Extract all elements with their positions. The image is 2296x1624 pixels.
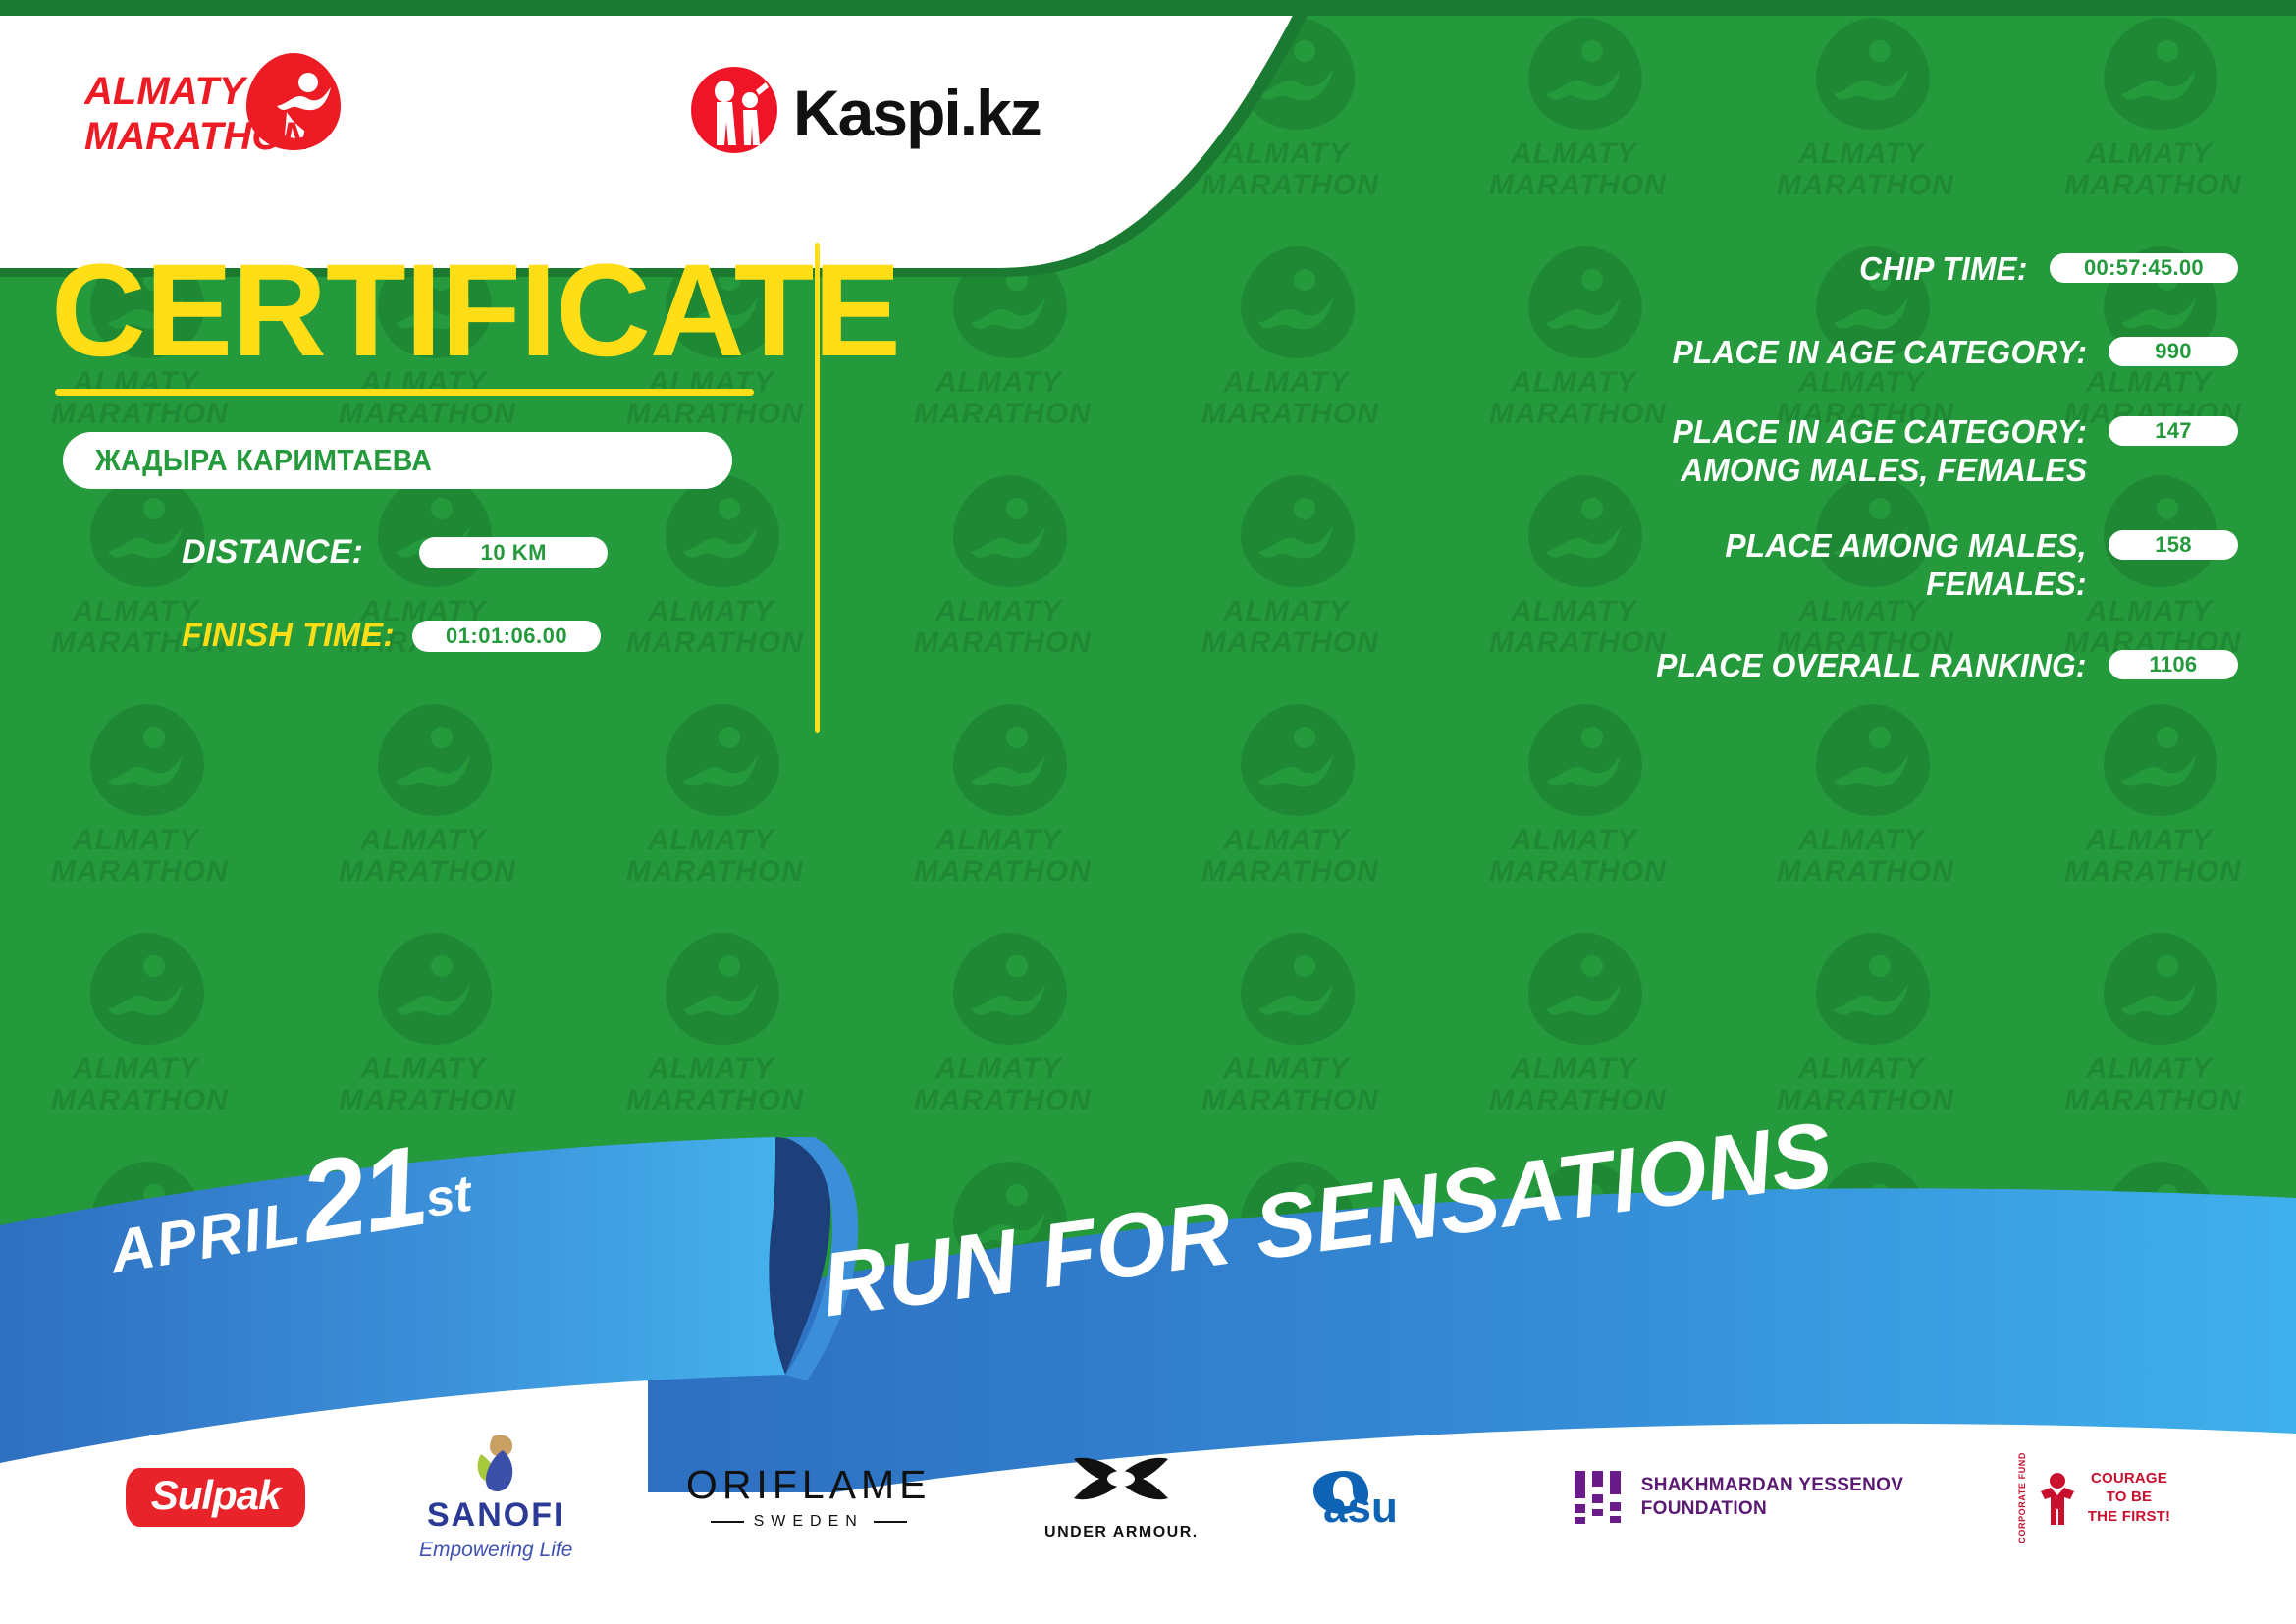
- distance-value: 10 KM: [419, 537, 608, 568]
- oriflame-sub-wrap: SWEDEN: [711, 1513, 907, 1531]
- kaspi-logo: Kaspi.kz: [687, 61, 1070, 159]
- stat-label: PLACE AMONG MALES, FEMALES:: [1726, 527, 2087, 604]
- stat-value: 990: [2109, 337, 2238, 366]
- finish-time-value: 01:01:06.00: [412, 621, 601, 652]
- oriflame-rule-right: [874, 1521, 907, 1523]
- stats-list: CHIP TIME: 00:57:45.00 PLACE IN AGE CATE…: [864, 250, 2238, 711]
- sponsor-asu: asu: [1311, 1465, 1459, 1530]
- yessenov-line2: FOUNDATION: [1641, 1497, 1903, 1521]
- sponsor-oriflame: ORIFLAME SWEDEN: [686, 1465, 932, 1531]
- sanofi-bird-icon: [459, 1433, 532, 1497]
- yessenov-line1: SHAKHMARDAN YESSENOV: [1641, 1474, 1903, 1497]
- courage-text: COURAGE TO BE THE FIRST!: [2088, 1469, 2171, 1527]
- participant-name-field: ЖАДЫРА КАРИМТАЕВА: [63, 432, 732, 489]
- sponsor-sulpak: Sulpak: [126, 1468, 306, 1527]
- finish-time-label: FINISH TIME:: [182, 617, 395, 655]
- stat-value: 158: [2109, 530, 2238, 560]
- finish-time-row: FINISH TIME: 01:01:06.00: [182, 617, 601, 655]
- stat-row: PLACE IN AGE CATEGORY: 990: [864, 334, 2238, 372]
- sanofi-name: SANOFI: [427, 1497, 564, 1534]
- almaty-logo-line2: MARATHON: [84, 115, 311, 158]
- almaty-marathon-logo: ALMATY MARATHON: [84, 47, 389, 165]
- stat-row: CHIP TIME: 00:57:45.00: [864, 250, 2238, 289]
- stat-label: CHIP TIME:: [1860, 250, 2028, 289]
- vertical-divider: [815, 243, 820, 733]
- certificate-title: CERTIFICATE: [51, 245, 797, 377]
- stat-value: 00:57:45.00: [2050, 253, 2238, 283]
- sponsor-sanofi: SANOFI Empowering Life: [419, 1433, 572, 1561]
- event-month: APRIL: [106, 1190, 306, 1287]
- courage-corporate-fund-label: CORPORATE FUND: [2017, 1452, 2027, 1543]
- courage-line2: TO BE: [2088, 1488, 2171, 1507]
- stat-row: PLACE AMONG MALES, FEMALES: 158: [864, 527, 2238, 604]
- stat-label: PLACE IN AGE CATEGORY:: [1672, 334, 2087, 372]
- almaty-logo-line1: ALMATY: [84, 70, 248, 113]
- stat-value: 1106: [2109, 650, 2238, 679]
- oriflame-sub: SWEDEN: [754, 1513, 864, 1531]
- stat-value: 147: [2109, 416, 2238, 446]
- sponsor-bar: Sulpak SANOFI Empowering Life ORIFLAME S…: [0, 1429, 2296, 1566]
- top-accent-bar: [0, 0, 2296, 16]
- sanofi-tagline: Empowering Life: [419, 1539, 572, 1562]
- yessenov-bars-icon: [1573, 1469, 1628, 1526]
- sulpak-logo-text: Sulpak: [126, 1468, 306, 1527]
- oriflame-name: ORIFLAME: [686, 1465, 932, 1505]
- stat-label: PLACE IN AGE CATEGORY: AMONG MALES, FEMA…: [1672, 413, 2087, 490]
- sponsor-yessenov: SHAKHMARDAN YESSENOV FOUNDATION: [1573, 1469, 1903, 1526]
- under-armour-name: UNDER ARMOUR.: [1044, 1524, 1199, 1542]
- distance-label: DISTANCE:: [182, 533, 363, 571]
- yessenov-text: SHAKHMARDAN YESSENOV FOUNDATION: [1641, 1474, 1903, 1521]
- distance-row: DISTANCE: 10 KM: [182, 533, 608, 571]
- oriflame-rule-left: [711, 1521, 744, 1523]
- under-armour-icon: [1056, 1453, 1186, 1518]
- event-day-suffix: st: [422, 1165, 476, 1229]
- stat-label: PLACE OVERALL RANKING:: [1657, 647, 2087, 685]
- event-day: 21: [293, 1121, 434, 1267]
- title-underline: [55, 389, 754, 396]
- participant-name: ЖАДЫРА КАРИМТАЕВА: [95, 443, 432, 478]
- courage-figure-icon: [2035, 1470, 2080, 1525]
- kaspi-logo-text: Kaspi.kz: [793, 77, 1041, 149]
- sponsor-under-armour: UNDER ARMOUR.: [1044, 1453, 1199, 1542]
- svg-text:asu: asu: [1323, 1484, 1398, 1530]
- courage-line3: THE FIRST!: [2088, 1507, 2171, 1527]
- certificate-page: ALMATY MARATHON ALMATY MARATHON Kaspi.k: [0, 0, 2296, 1624]
- sponsor-courage: CORPORATE FUND COURAGE TO BE THE FIRST!: [2017, 1452, 2171, 1543]
- courage-line1: COURAGE: [2088, 1469, 2171, 1489]
- asu-logo-icon: asu: [1311, 1465, 1459, 1530]
- stat-row: PLACE IN AGE CATEGORY: AMONG MALES, FEMA…: [864, 413, 2238, 490]
- stat-row: PLACE OVERALL RANKING: 1106: [864, 647, 2238, 685]
